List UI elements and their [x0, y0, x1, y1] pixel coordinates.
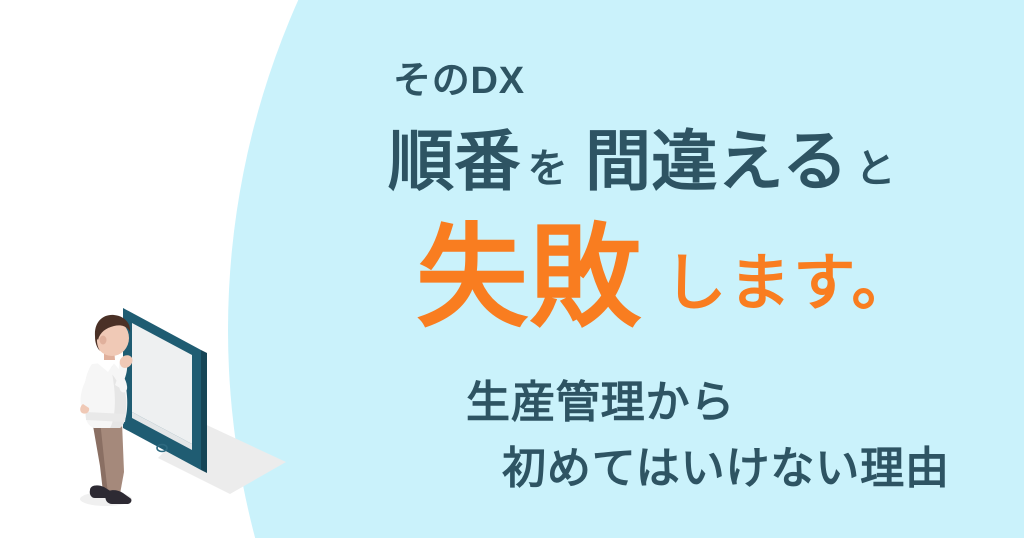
promotional-banner: そのDX 順番を間違えると 失敗します。 生産管理から 初めてはいけない理由	[0, 0, 1024, 538]
headline-copy-block: そのDX 順番を間違えると 失敗します。 生産管理から 初めてはいけない理由	[0, 0, 1024, 538]
headline-eyebrow: そのDX	[393, 62, 525, 100]
headline-emphasis-word: 失敗	[416, 215, 642, 340]
headline-subline-1: 生産管理から	[466, 381, 735, 425]
headline-emphasis-suffix: します。	[642, 249, 916, 318]
headline-emphasis-line: 失敗します。	[416, 222, 916, 334]
headline-subline-2: 初めてはいけない理由	[502, 447, 950, 491]
headline-main-line: 順番を間違えると	[388, 128, 903, 194]
headline-main-part1: 順番	[388, 124, 521, 198]
headline-particle-to: と	[848, 147, 902, 191]
headline-main-part2: 間違える	[585, 124, 848, 198]
headline-particle-wo: を	[521, 147, 575, 191]
